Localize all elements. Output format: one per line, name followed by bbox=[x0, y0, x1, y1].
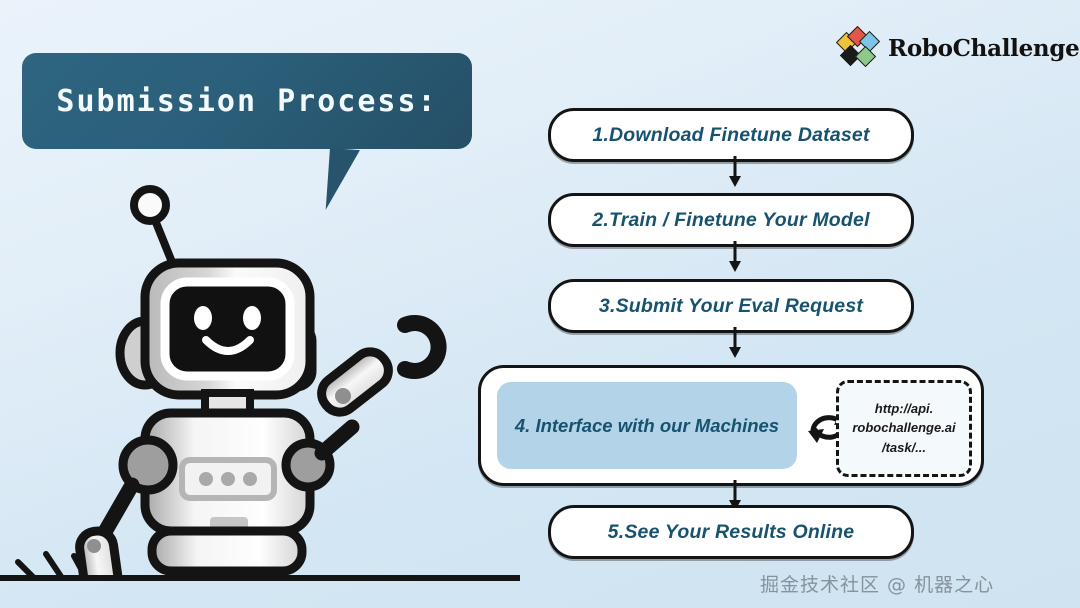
robot-face-screen bbox=[165, 282, 290, 376]
flow-step-4-panel: 4. Interface with our Machines bbox=[497, 382, 797, 469]
eye-left bbox=[194, 306, 212, 330]
slide-canvas: RoboChallenge Submission Process: bbox=[0, 0, 1080, 608]
panel-light-1 bbox=[199, 472, 213, 486]
api-endpoint-box: http://api. robochallenge.ai /task/... bbox=[836, 380, 972, 477]
down-arrow-icon bbox=[728, 241, 742, 273]
api-line-3: /task/... bbox=[882, 441, 926, 455]
eye-right bbox=[243, 306, 261, 330]
claw-right bbox=[405, 323, 439, 371]
logo-diamond-green bbox=[855, 46, 876, 67]
flow-step-4-label: 4. Interface with our Machines bbox=[515, 415, 779, 437]
panel-light-2 bbox=[221, 472, 235, 486]
flow-step-3[interactable]: 3.Submit Your Eval Request bbox=[548, 279, 914, 333]
flow-step-2[interactable]: 2.Train / Finetune Your Model bbox=[548, 193, 914, 247]
forearm-right bbox=[315, 345, 395, 419]
robot-mascot-icon bbox=[60, 165, 460, 580]
flow-step-1-label: 1.Download Finetune Dataset bbox=[592, 124, 869, 147]
api-line-1: http://api. bbox=[875, 402, 934, 416]
diamond-cluster-icon bbox=[838, 28, 882, 68]
flow-step-4[interactable]: 4. Interface with our Machines http://ap… bbox=[478, 365, 984, 486]
watermark: 掘金技术社区 @ 机器之心 bbox=[760, 570, 994, 597]
upper-arm-right bbox=[322, 427, 352, 453]
speech-bubble: Submission Process: bbox=[22, 53, 472, 149]
flow-step-2-label: 2.Train / Finetune Your Model bbox=[592, 209, 869, 232]
panel-light-3 bbox=[243, 472, 257, 486]
submission-flowchart: 1.Download Finetune Dataset 2.Train / Fi… bbox=[470, 100, 990, 570]
brand-logo: RoboChallenge bbox=[838, 28, 1079, 68]
api-line-2: robochallenge.ai bbox=[852, 421, 955, 435]
elbow-dot-right bbox=[335, 388, 351, 404]
down-arrow-icon bbox=[728, 156, 742, 188]
flow-step-1[interactable]: 1.Download Finetune Dataset bbox=[548, 108, 914, 162]
brand-name: RoboChallenge bbox=[888, 35, 1079, 62]
flow-step-3-label: 3.Submit Your Eval Request bbox=[599, 295, 863, 318]
antenna-ball bbox=[134, 189, 166, 221]
down-arrow-icon bbox=[728, 327, 742, 359]
flow-step-5[interactable]: 5.See Your Results Online bbox=[548, 505, 914, 559]
flow-step-5-label: 5.See Your Results Online bbox=[608, 521, 855, 544]
page-title: Submission Process: bbox=[22, 53, 472, 149]
